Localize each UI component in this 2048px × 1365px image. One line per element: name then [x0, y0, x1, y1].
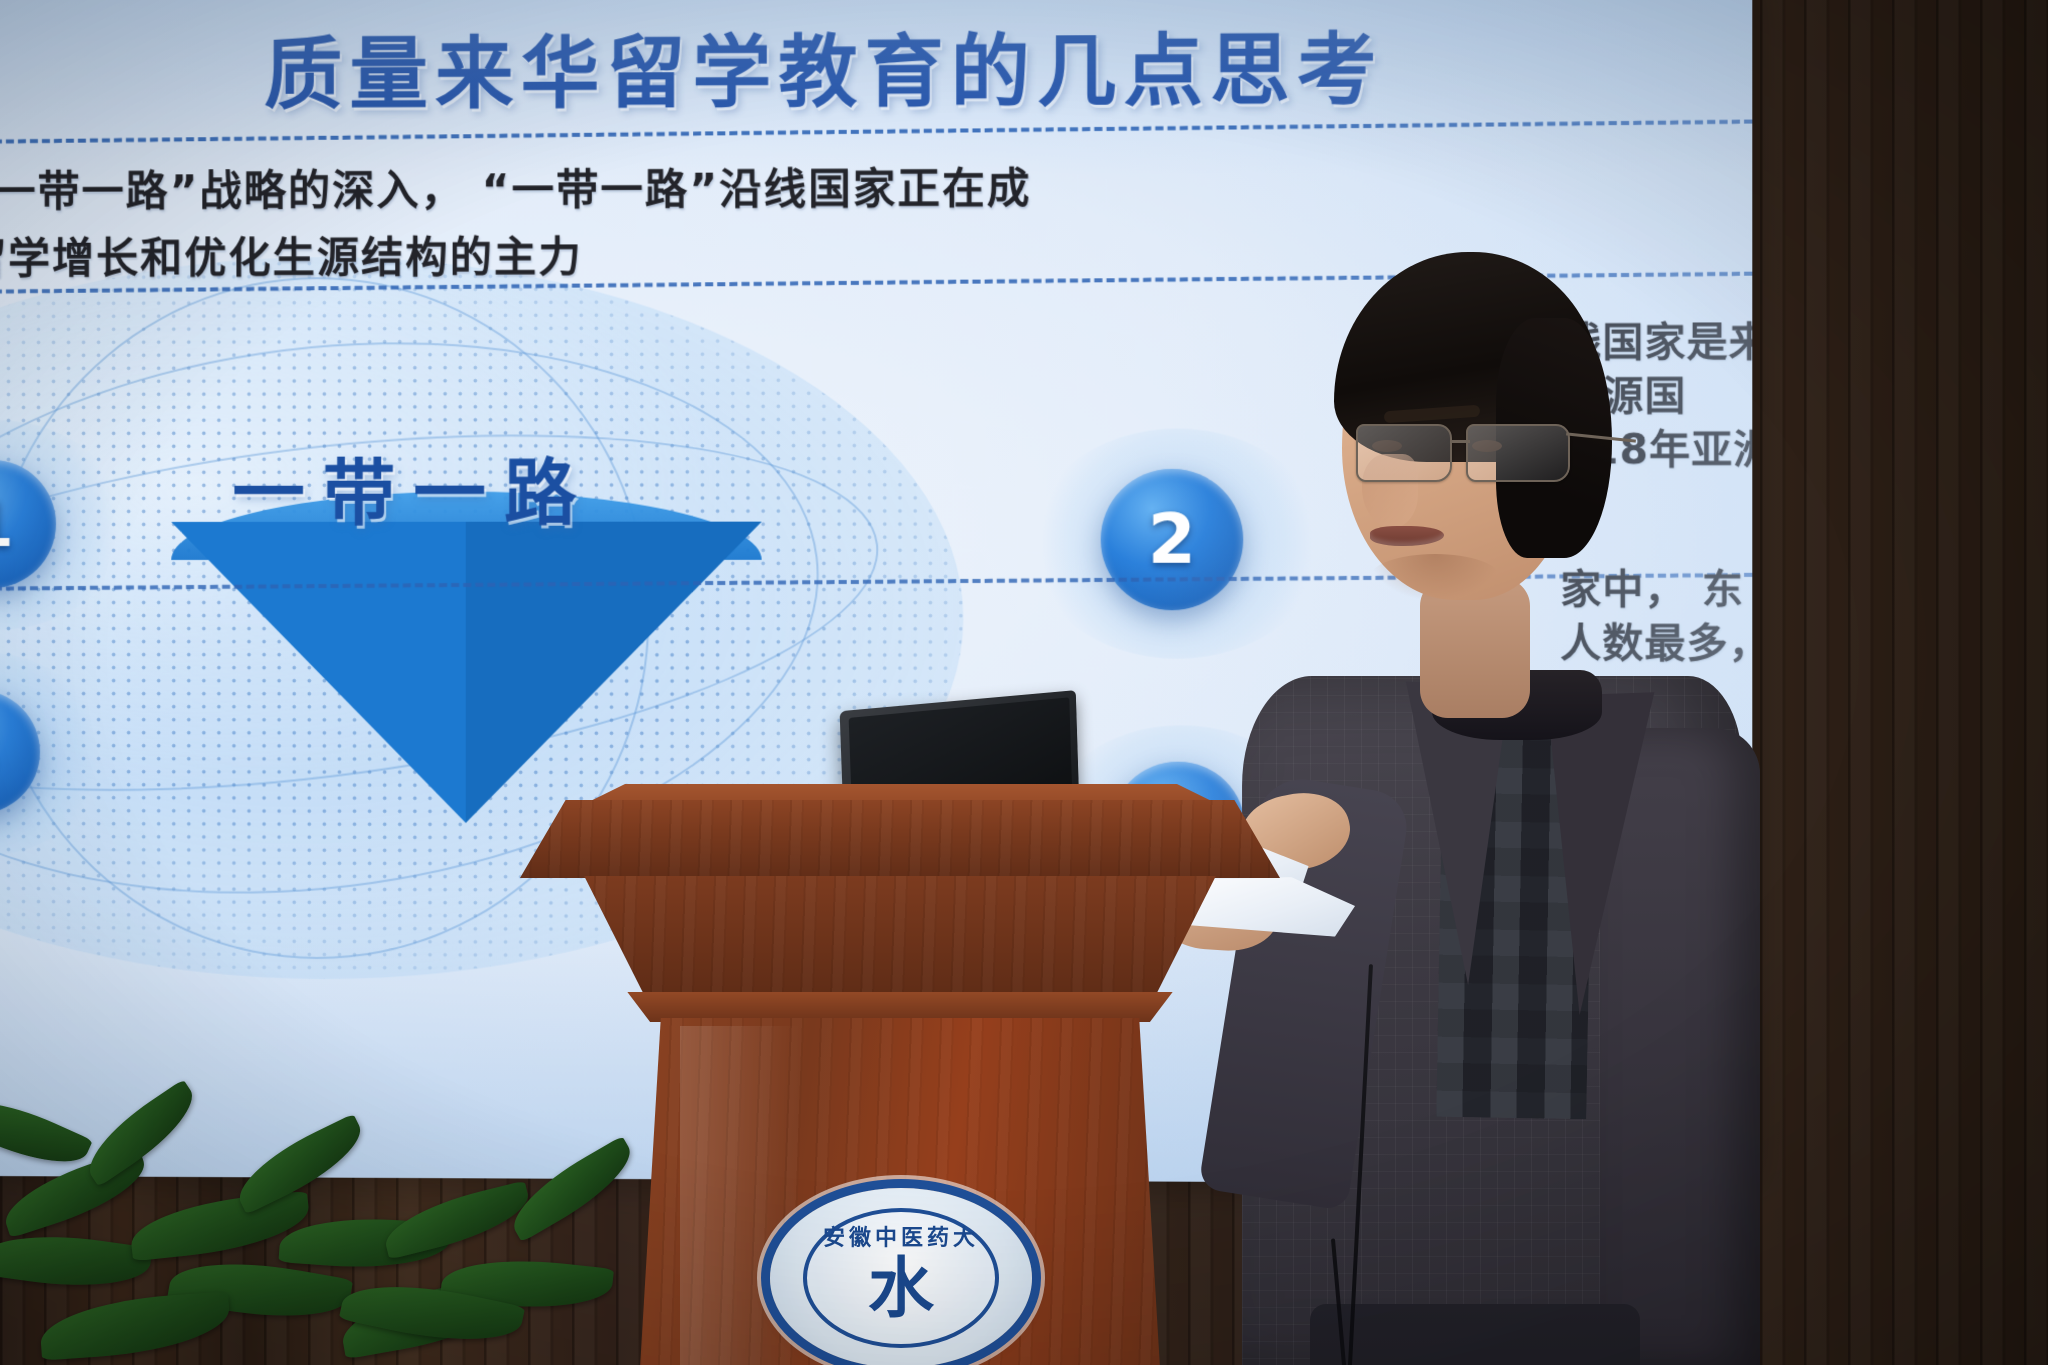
suit-lapel-right	[1546, 692, 1665, 1016]
slide-title: 质量来华留学教育的几点思考	[0, 5, 1752, 127]
emblem-inner-ring: 安徽中医药大 水	[803, 1208, 999, 1348]
chin-shadow	[1370, 554, 1500, 600]
belt-and-road-label: 一带一路	[232, 433, 594, 539]
podium-top	[520, 800, 1280, 878]
podium-ledge	[616, 992, 1184, 1022]
funnel-graphic	[171, 491, 761, 823]
glasses-lens	[1356, 424, 1452, 482]
leaf	[0, 1224, 153, 1297]
glasses-bridge	[1450, 440, 1470, 443]
slide-disc-2: 2	[1101, 469, 1244, 610]
podium-mid	[564, 876, 1236, 996]
glasses-lens	[1466, 424, 1570, 482]
leaf	[0, 1083, 93, 1180]
potted-plant-center	[382, 1168, 682, 1365]
funnel-shadow	[466, 522, 762, 824]
leaf	[38, 1291, 231, 1360]
speaker	[1300, 258, 1720, 1365]
eyeglasses	[1350, 418, 1582, 492]
speaker-trousers	[1310, 1304, 1640, 1365]
emblem-top-text: 安徽中医药大	[807, 1220, 995, 1252]
leaf	[379, 1181, 535, 1260]
slide-subtitle-line-1: “一带一路”战略的深入， “一带一路”沿线国家正在成	[0, 154, 1032, 219]
wood-grain	[520, 800, 1280, 878]
wood-grain	[564, 876, 1236, 996]
emblem-glyph: 水	[868, 1256, 934, 1322]
photo-scene: 一带一路 1 2 3 4 质量来华留学教育的几点思考 “一带一路”战略的深入， …	[0, 0, 2048, 1365]
university-emblem: 安徽中医药大 水	[770, 1188, 1032, 1365]
slide-subtitle-line-2: 留学增长和优化生源结构的主力	[0, 223, 583, 286]
